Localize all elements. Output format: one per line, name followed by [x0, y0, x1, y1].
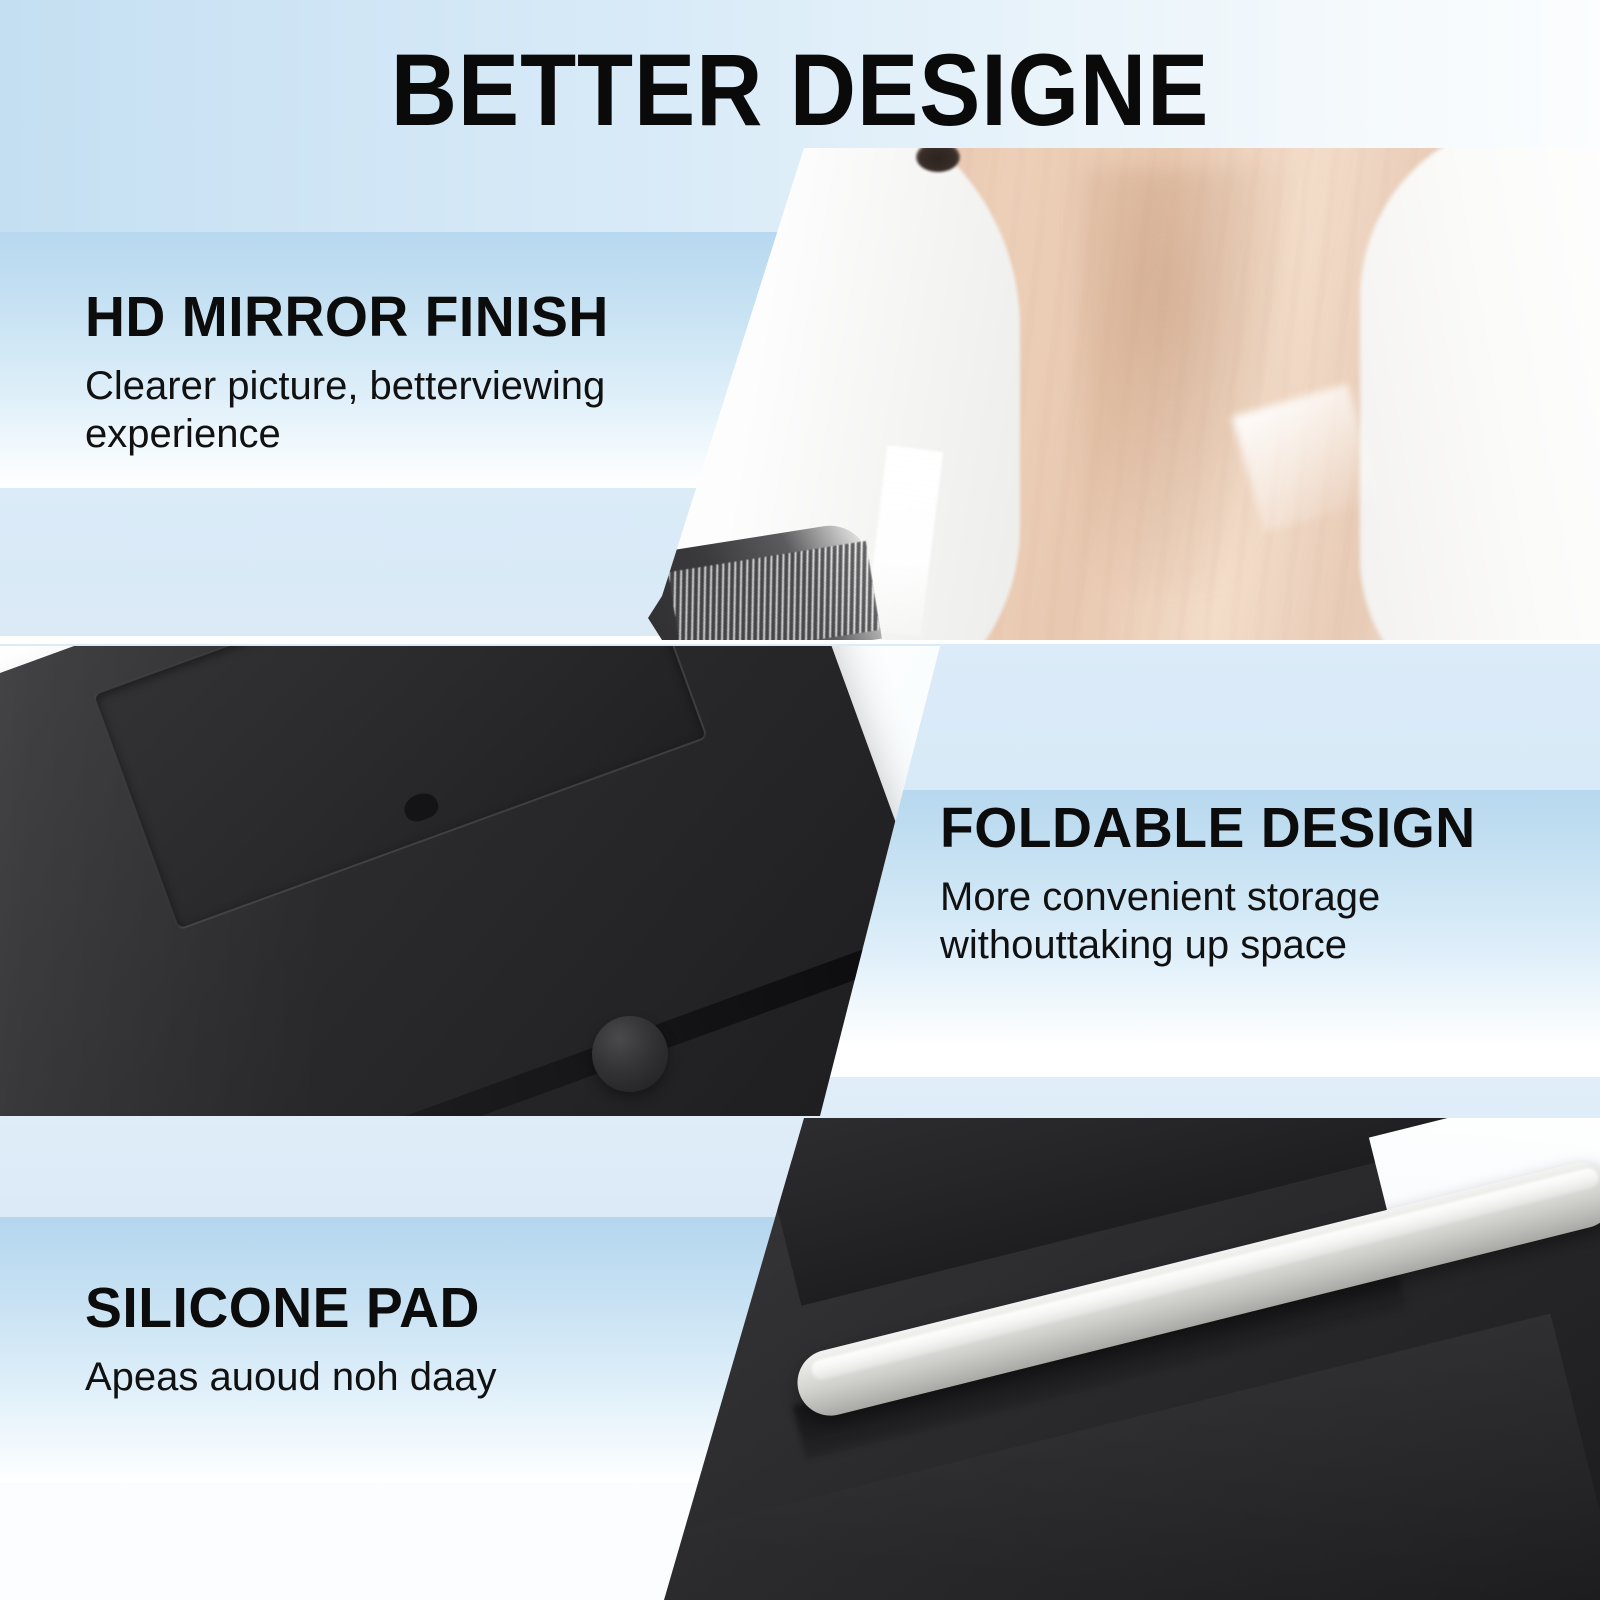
feature-subtitle: Apeas auoud noh daay: [85, 1353, 496, 1401]
feature-text-foldable-design: FOLDABLE DESIGN More convenient storage …: [940, 795, 1540, 969]
feature-heading: HD MIRROR FINISH: [85, 284, 628, 350]
feature-text-silicone-pad: SILICONE PAD Apeas auoud noh daay: [85, 1275, 496, 1401]
feature-subtitle: Clearer picture, betterviewing experienc…: [85, 362, 645, 458]
feature-image-foldable-design: [0, 646, 952, 1116]
feature-text-hd-mirror-finish: HD MIRROR FINISH Clearer picture, better…: [85, 284, 645, 458]
feature-subtitle: More convenient storage withouttaking up…: [940, 873, 1540, 969]
feature-heading: FOLDABLE DESIGN: [940, 795, 1522, 861]
wood-shadow: [1080, 168, 1290, 588]
feature-heading: SILICONE PAD: [85, 1275, 484, 1341]
round-knob: [592, 1016, 668, 1092]
page-title: BETTER DESIGNE: [80, 34, 1520, 146]
feature-image-silicone-pad: [640, 1118, 1600, 1600]
feature-image-hd-mirror-finish: [640, 148, 1600, 640]
product-infographic: BETTER DESIGNE HD MIRROR FINISH Clearer …: [0, 0, 1600, 1600]
glossy-right-sheet: [1360, 148, 1600, 640]
